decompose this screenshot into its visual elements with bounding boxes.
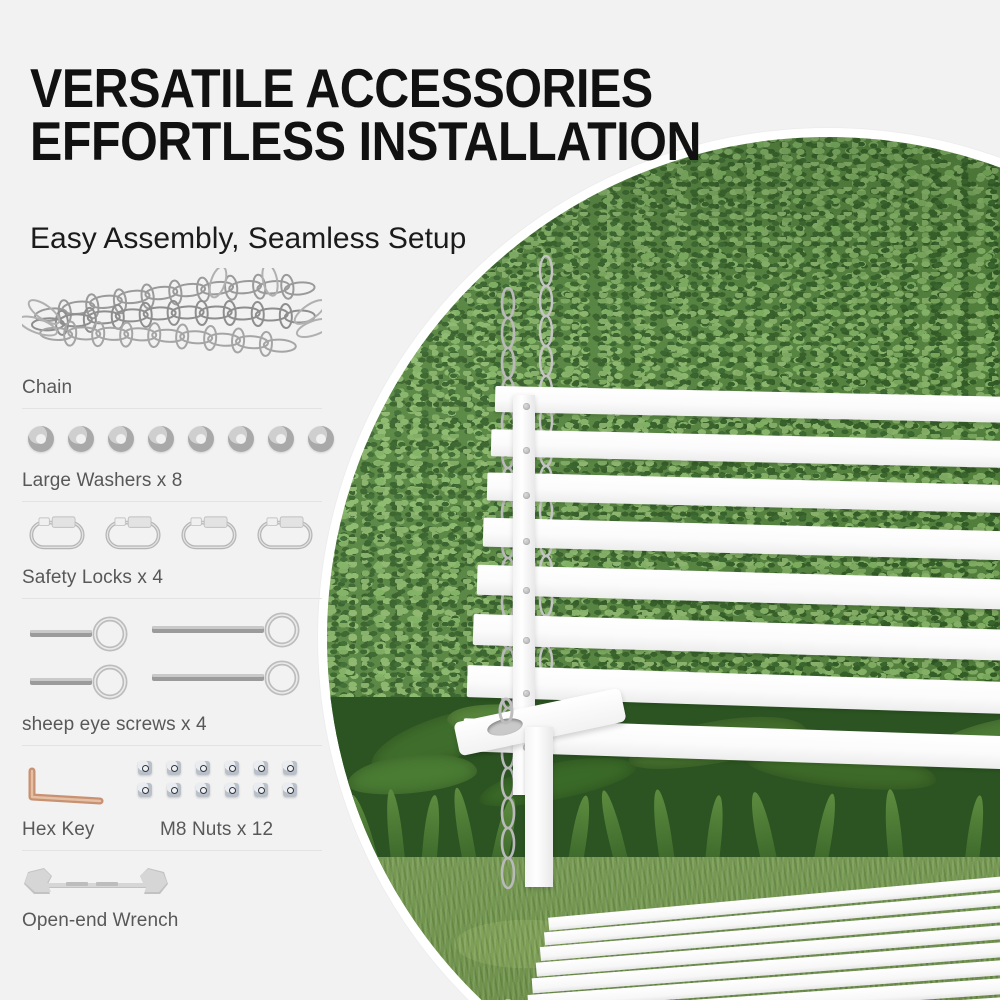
hexkey-nuts-icon-group <box>22 757 322 813</box>
accessory-row-large-washers: Large Washers x 8 <box>22 420 322 502</box>
eye-screw-icon <box>28 664 138 700</box>
backrest-slat <box>487 472 1000 521</box>
nut-icon <box>196 783 210 797</box>
accessory-label: Chain <box>22 377 322 399</box>
washer-icon <box>68 426 94 452</box>
infographic-canvas: VERSATILE ACCESSORIES EFFORTLESS INSTALL… <box>0 0 1000 1000</box>
accessory-label: M8 Nuts x 12 <box>160 819 273 841</box>
page-subtitle: Easy Assembly, Seamless Setup <box>30 222 466 256</box>
washer-icon <box>148 426 174 452</box>
washer-icon-group <box>22 420 322 466</box>
accessory-label: Large Washers x 8 <box>22 470 322 492</box>
backrest-slat <box>495 386 1000 430</box>
nut-icon <box>167 761 181 775</box>
armrest-support <box>525 727 553 887</box>
chain-left-back <box>533 255 559 675</box>
eye-screw-icon <box>28 616 138 652</box>
porch-swing-photo <box>327 137 1000 1000</box>
quick-link-icon <box>26 515 88 553</box>
washer-icon <box>28 426 54 452</box>
quick-link-icon <box>254 515 316 553</box>
eye-screw-icon-group <box>22 610 322 710</box>
accessory-label: Hex Key <box>22 819 116 841</box>
accessory-list: Chain Large Washers x 8 <box>22 268 322 952</box>
nut-icon-group <box>138 761 308 807</box>
washer-icon <box>228 426 254 452</box>
nut-icon <box>225 783 239 797</box>
nut-icon <box>138 783 152 797</box>
nut-icon <box>225 761 239 775</box>
accessory-row-hexkey-nuts: Hex Key M8 Nuts x 12 <box>22 757 322 851</box>
eye-screw-icon <box>150 660 310 696</box>
page-title: VERSATILE ACCESSORIES EFFORTLESS INSTALL… <box>30 62 646 169</box>
accessory-label: Open-end Wrench <box>22 910 322 932</box>
nut-icon <box>196 761 210 775</box>
nut-icon <box>254 783 268 797</box>
headline-line-2: EFFORTLESS INSTALLATION <box>30 115 646 168</box>
nut-icon <box>167 783 181 797</box>
washer-icon <box>188 426 214 452</box>
quick-link-icon <box>102 515 164 553</box>
nut-icon <box>283 783 297 797</box>
quick-link-icon <box>178 515 240 553</box>
accessory-row-open-end-wrench: Open-end Wrench <box>22 862 322 941</box>
chain-coil-icon <box>22 268 322 373</box>
washer-icon <box>108 426 134 452</box>
accessory-row-chain: Chain <box>22 268 322 409</box>
backrest-slat <box>483 518 1000 570</box>
headline-line-1: VERSATILE ACCESSORIES <box>30 62 646 115</box>
nut-icon <box>138 761 152 775</box>
open-end-wrench-icon-group <box>22 862 322 906</box>
washer-icon <box>308 426 334 452</box>
porch-swing-product <box>327 137 1000 1000</box>
chain-eye-ring <box>495 697 517 737</box>
nut-icon <box>283 761 297 775</box>
accessory-row-safety-locks: Safety Locks x 4 <box>22 513 322 599</box>
hex-key-icon <box>24 767 114 809</box>
accessory-row-sheep-eye-screws: sheep eye screws x 4 <box>22 610 322 746</box>
eye-screw-icon <box>150 612 310 648</box>
backrest-slat <box>491 429 1000 476</box>
washer-icon <box>268 426 294 452</box>
accessory-label: sheep eye screws x 4 <box>22 714 322 736</box>
nut-icon <box>254 761 268 775</box>
open-end-wrench-icon <box>22 864 172 906</box>
quick-link-icon-group <box>22 513 322 563</box>
accessory-label: Safety Locks x 4 <box>22 567 322 589</box>
